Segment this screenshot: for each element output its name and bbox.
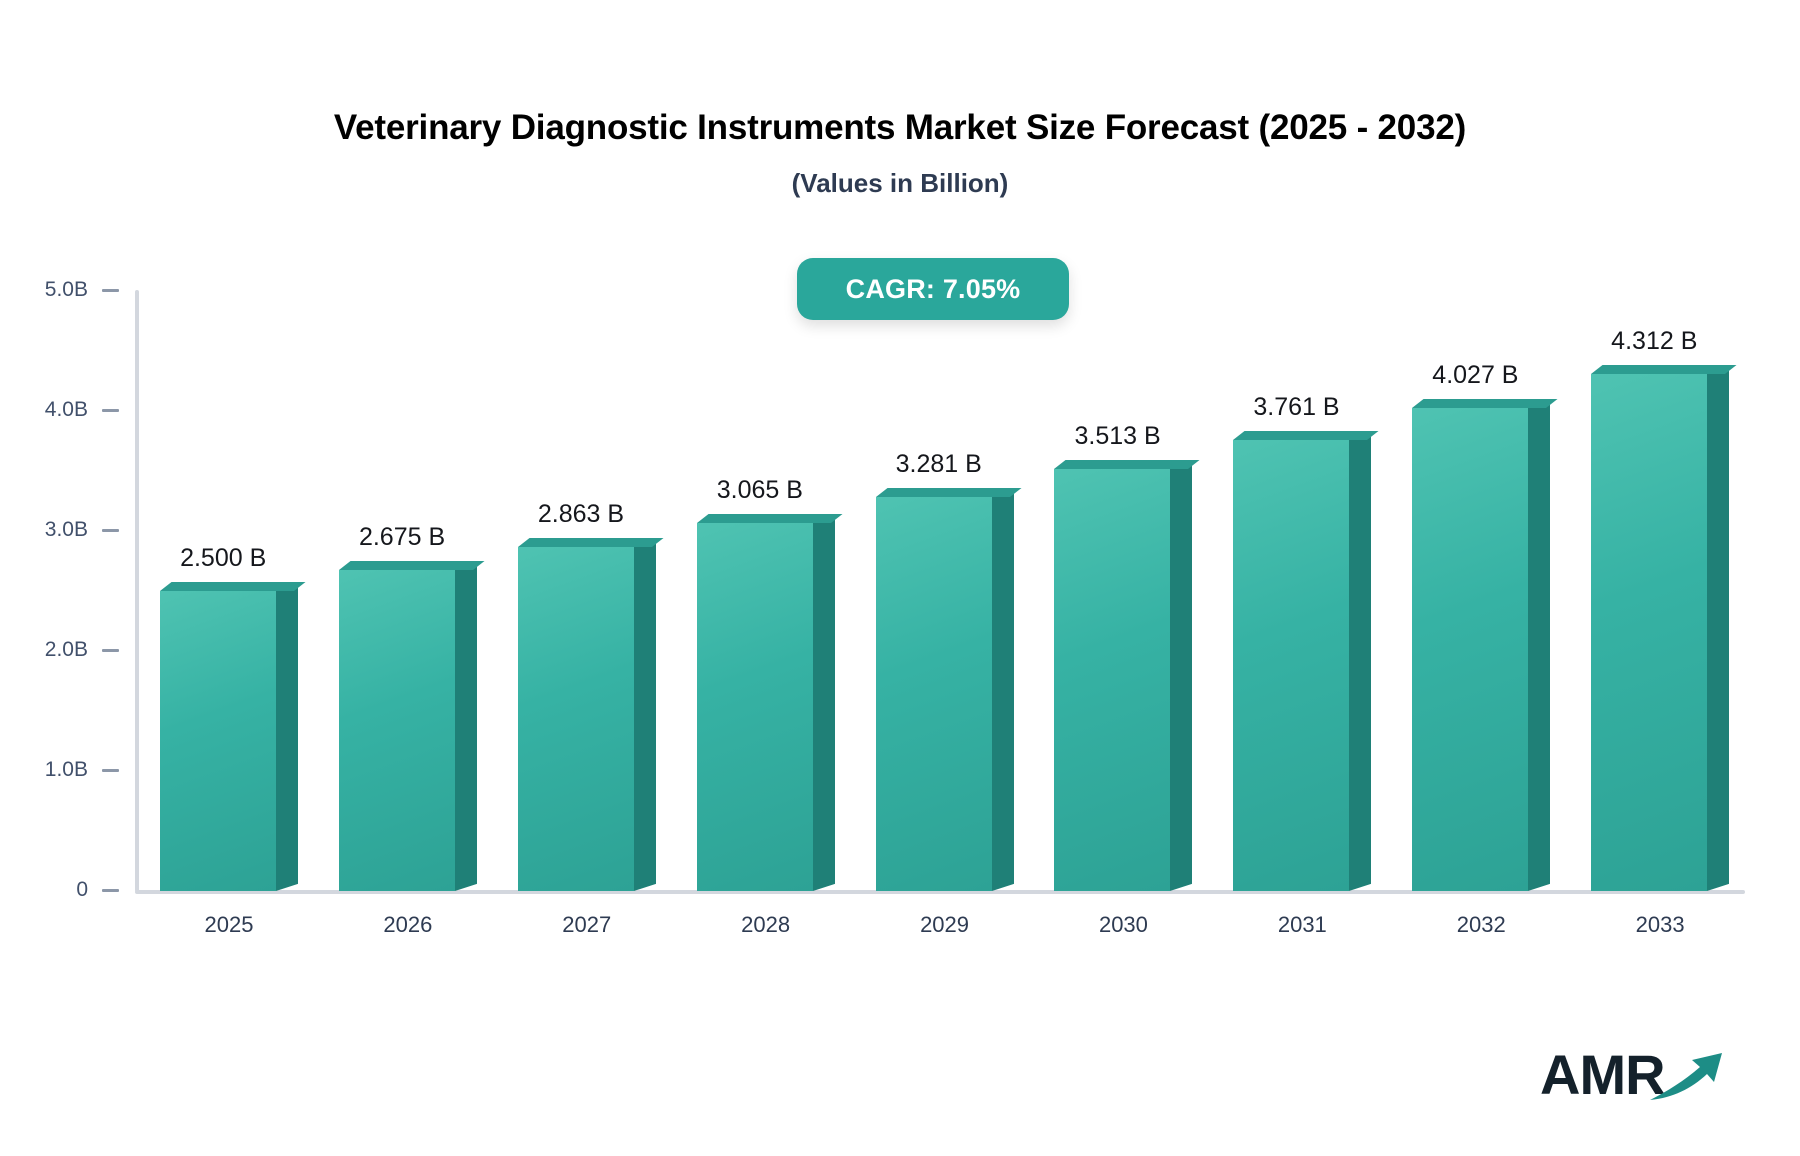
bar-value-label: 4.312 B	[1611, 327, 1697, 356]
bar-top-face	[339, 561, 485, 570]
bar-front-face	[1412, 408, 1528, 891]
y-axis-tick-mark	[102, 769, 119, 772]
y-axis-line	[135, 290, 139, 892]
y-axis-tick-mark	[102, 529, 119, 532]
bar-top-face	[160, 582, 306, 591]
bar-top-face	[876, 488, 1022, 497]
bar-front-face	[339, 570, 455, 891]
y-axis-tick-mark	[102, 409, 119, 412]
bar-value-label: 2.675 B	[359, 523, 445, 552]
bar-value-label: 3.065 B	[717, 476, 803, 505]
y-axis-tick-mark	[102, 889, 119, 892]
x-axis-tick-label: 2026	[321, 912, 495, 938]
bar-front-face	[518, 547, 634, 891]
bar-value-label: 4.027 B	[1432, 361, 1518, 390]
bar-side-face	[276, 584, 298, 891]
bar-value-label: 2.500 B	[180, 544, 266, 573]
bar: 4.027 B	[1412, 408, 1528, 891]
y-axis-tick: 5.0B	[45, 280, 135, 300]
amr-logo-text: AMR	[1540, 1042, 1665, 1107]
y-axis-tick: 4.0B	[45, 400, 135, 420]
bar-front-face	[160, 591, 276, 891]
y-axis-tick-label: 3.0B	[45, 518, 88, 542]
y-axis-tick: 1.0B	[45, 760, 135, 780]
y-axis-tick-label: 4.0B	[45, 398, 88, 422]
bar: 2.863 B	[518, 547, 634, 891]
y-axis-tick-label: 2.0B	[45, 638, 88, 662]
bar-value-label: 3.513 B	[1075, 422, 1161, 451]
bar-front-face	[697, 523, 813, 891]
amr-logo: AMR	[1540, 1040, 1720, 1110]
bar-side-face	[455, 563, 477, 891]
bar-value-label: 3.761 B	[1253, 393, 1339, 422]
bar-side-face	[634, 540, 656, 891]
bar-front-face	[1233, 440, 1349, 891]
bar-top-face	[1591, 365, 1737, 374]
page-title: Veterinary Diagnostic Instruments Market…	[0, 108, 1800, 148]
bar: 2.500 B	[160, 591, 276, 891]
y-axis-tick-label: 1.0B	[45, 758, 88, 782]
bar-side-face	[1170, 462, 1192, 891]
bar-side-face	[1528, 401, 1550, 891]
y-axis-tick-label: 0	[76, 878, 88, 902]
bar: 3.281 B	[876, 497, 992, 891]
x-axis-tick-label: 2030	[1036, 912, 1210, 938]
bar-side-face	[992, 490, 1014, 891]
bar-front-face	[1054, 469, 1170, 891]
x-axis-tick-label: 2027	[500, 912, 674, 938]
chart-subtitle: (Values in Billion)	[0, 168, 1800, 199]
bar-top-face	[1054, 460, 1200, 469]
bar-top-face	[1412, 399, 1558, 408]
bar-top-face	[518, 538, 664, 547]
bar: 2.675 B	[339, 570, 455, 891]
bar: 4.312 B	[1591, 374, 1707, 891]
bar-value-label: 2.863 B	[538, 500, 624, 529]
y-axis-tick-mark	[102, 649, 119, 652]
chart-canvas: Veterinary Diagnostic Instruments Market…	[0, 0, 1800, 1156]
x-axis-tick-label: 2029	[858, 912, 1032, 938]
bar-front-face	[876, 497, 992, 891]
bar-side-face	[1349, 433, 1371, 891]
x-axis-tick-label: 2033	[1573, 912, 1747, 938]
bar-value-label: 3.281 B	[896, 450, 982, 479]
bar: 3.065 B	[697, 523, 813, 891]
bar-top-face	[1233, 431, 1379, 440]
plot-area: 5.0B4.0B3.0B2.0B1.0B0 2.500 B2.675 B2.86…	[135, 290, 1745, 895]
x-axis-tick-label: 2032	[1394, 912, 1568, 938]
bar-side-face	[1707, 366, 1729, 891]
y-axis-tick: 2.0B	[45, 640, 135, 660]
growth-arrow-icon	[1648, 1048, 1726, 1111]
bar-top-face	[697, 514, 843, 523]
bar-front-face	[1591, 374, 1707, 891]
bar-side-face	[813, 516, 835, 891]
y-axis-tick: 3.0B	[45, 520, 135, 540]
x-axis-tick-label: 2028	[679, 912, 853, 938]
x-axis-tick-label: 2025	[142, 912, 316, 938]
y-axis-tick-mark	[102, 289, 119, 292]
bar: 3.761 B	[1233, 440, 1349, 891]
y-axis-tick: 0	[76, 880, 135, 900]
bar: 3.513 B	[1054, 469, 1170, 891]
x-axis-tick-label: 2031	[1215, 912, 1389, 938]
y-axis-tick-label: 5.0B	[45, 278, 88, 302]
